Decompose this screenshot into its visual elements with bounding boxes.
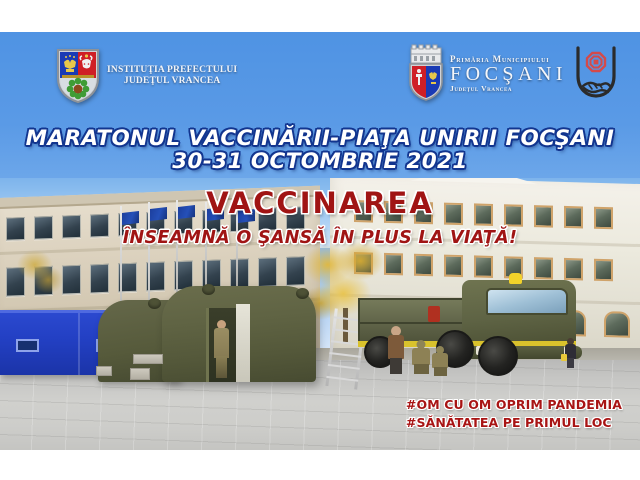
headline-line-2: 30-31 OCTOMBRIE 2021 xyxy=(0,150,640,174)
city-hall-line-2: FOCŞANI xyxy=(450,64,567,84)
u-handshake-logo-icon xyxy=(571,44,621,102)
top-white-margin xyxy=(0,0,640,32)
soldier-torso xyxy=(214,328,229,358)
barrier-block xyxy=(96,366,112,376)
pedestrian xyxy=(565,338,576,368)
tent-vent xyxy=(202,284,215,295)
city-hall-logo: Primăria Municipiului FOCŞANI Judeţul Vr… xyxy=(406,44,621,102)
window xyxy=(90,264,109,294)
tent-window xyxy=(16,339,39,352)
hashtag-2: #SĂNĂTATEA PE PRIMUL LOC xyxy=(406,414,622,432)
soldier-figure xyxy=(214,320,229,378)
bottom-white-margin xyxy=(0,450,640,480)
prefecture-line-2: JUDEŢUL VRANCEA xyxy=(107,76,237,87)
window-row xyxy=(354,252,613,281)
window xyxy=(534,257,553,280)
headline-line-1: MARATONUL VACCINĂRII-PIAŢA UNIRII FOCŞAN… xyxy=(0,128,640,150)
window xyxy=(594,259,613,282)
tent-vent xyxy=(296,288,309,299)
person-torso xyxy=(432,353,448,368)
window xyxy=(474,255,493,278)
vrancea-county-coat-of-arms-icon xyxy=(56,48,100,104)
person-legs xyxy=(390,358,402,374)
person-torso xyxy=(388,335,404,359)
arched-window xyxy=(604,311,630,338)
truck-wheel xyxy=(478,336,518,376)
city-hall-line-1: Primăria Municipiului xyxy=(450,54,567,64)
ladder-rung xyxy=(329,352,361,358)
window xyxy=(414,254,433,277)
poster-headline: MARATONUL VACCINĂRII-PIAŢA UNIRII FOCŞAN… xyxy=(0,128,640,174)
shopping-bag xyxy=(561,354,567,361)
tent-door-flap xyxy=(236,304,250,382)
truck-beacon-light xyxy=(509,273,522,284)
person-legs xyxy=(434,367,447,376)
window xyxy=(230,258,249,288)
focsani-city-coat-of-arms-icon xyxy=(406,44,446,102)
prefecture-line-1: INSTITUŢIA PREFECTULUI xyxy=(107,65,237,76)
barrier-block xyxy=(133,354,163,364)
slogan-sub: ÎNSEAMNĂ O ŞANSĂ ÎN PLUS LA VIAŢĂ! xyxy=(0,228,640,248)
hashtag-block: #OM CU OM OPRIM PANDEMIA #SĂNĂTATEA PE P… xyxy=(406,396,622,432)
window xyxy=(258,257,277,287)
city-hall-logo-text: Primăria Municipiului FOCŞANI Judeţul Vr… xyxy=(450,54,567,93)
tent-vent xyxy=(148,298,161,309)
slogan-main: VACCINAREA xyxy=(0,186,640,220)
pedestrian-legs xyxy=(567,358,574,368)
truck-windshield xyxy=(486,288,568,315)
window xyxy=(564,258,583,281)
person-standing xyxy=(388,326,404,374)
autumn-tree-small xyxy=(14,244,66,302)
truck-emblem xyxy=(428,306,440,322)
ladder-rung xyxy=(326,376,358,382)
soldier-legs xyxy=(216,356,227,378)
vaccination-campaign-poster: INSTITUŢIA PREFECTULUI JUDEŢUL VRANCEA xyxy=(0,0,640,480)
ladder-rung xyxy=(328,364,360,370)
person-crouching xyxy=(432,346,448,376)
barrier-block xyxy=(130,368,150,380)
prefecture-logo-text: INSTITUŢIA PREFECTULUI JUDEŢUL VRANCEA xyxy=(107,65,237,87)
building-pediment xyxy=(410,178,538,184)
person-crouching xyxy=(412,340,430,374)
prefecture-logo: INSTITUŢIA PREFECTULUI JUDEŢUL VRANCEA xyxy=(56,48,237,104)
person-torso xyxy=(412,348,430,365)
hashtag-1: #OM CU OM OPRIM PANDEMIA xyxy=(406,396,622,414)
person-legs xyxy=(414,364,429,374)
window xyxy=(444,255,463,278)
